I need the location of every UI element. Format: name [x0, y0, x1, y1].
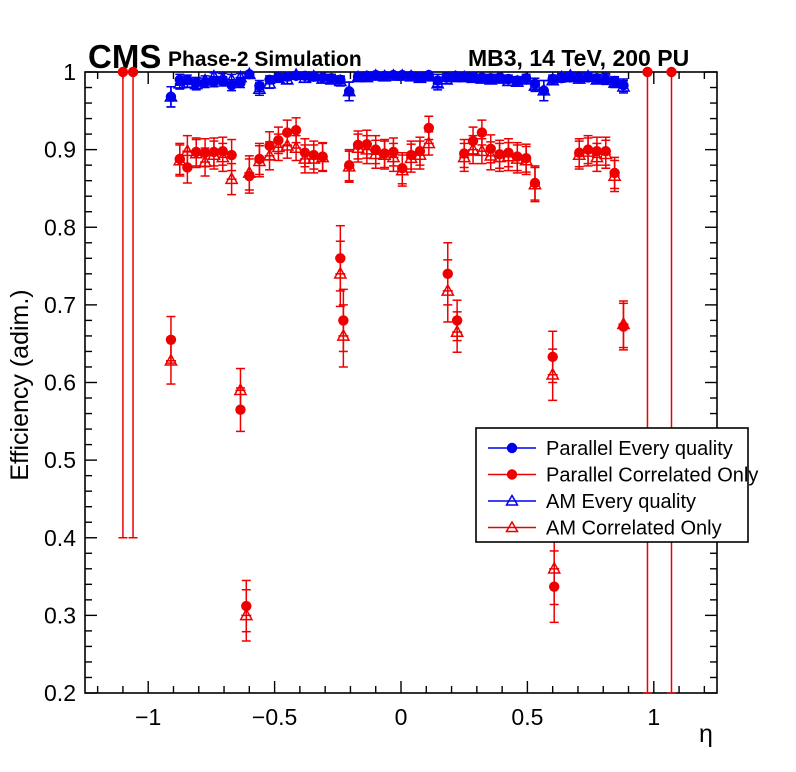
legend-layer[interactable]: Parallel Every qualityParallel Correlate… — [476, 428, 758, 542]
legend-label: Parallel Correlated Only — [546, 465, 758, 487]
y-tick-label: 0.7 — [44, 292, 76, 318]
legend-marker-filled-circle — [507, 443, 517, 453]
x-tick-label: −0.5 — [252, 704, 297, 730]
marker-filled-circle — [477, 127, 487, 137]
y-tick-label: 0.6 — [44, 370, 76, 396]
legend-label: AM Correlated Only — [546, 518, 722, 540]
y-tick-label: 1 — [63, 59, 76, 85]
legend-marker-filled-circle — [507, 469, 517, 479]
x-axis-title: η — [699, 720, 713, 748]
marker-filled-circle — [226, 150, 236, 160]
legend-label: Parallel Every quality — [546, 438, 733, 460]
x-tick-label: −1 — [135, 704, 161, 730]
x-tick-label: 1 — [647, 704, 660, 730]
x-tick-label: 0.5 — [511, 704, 543, 730]
marker-filled-circle — [291, 125, 301, 135]
y-tick-label: 0.8 — [44, 214, 76, 240]
marker-filled-circle — [666, 67, 676, 77]
dataset-conditions-label: MB3, 14 TeV, 200 PU — [468, 45, 689, 71]
canvas-background — [0, 0, 796, 772]
y-axis-title: Efficiency (adim.) — [6, 289, 34, 480]
phase2-simulation-label: Phase-2 Simulation — [168, 48, 362, 71]
marker-filled-circle — [642, 67, 652, 77]
efficiency-vs-eta-plot: CMS Phase-2 Simulation MB3, 14 TeV, 200 … — [0, 0, 796, 772]
marker-filled-circle — [128, 67, 138, 77]
x-tick-label: 0 — [395, 704, 408, 730]
y-tick-label: 0.9 — [44, 137, 76, 163]
marker-filled-circle — [118, 67, 128, 77]
y-tick-label: 0.3 — [44, 602, 76, 628]
legend-label: AM Every quality — [546, 491, 696, 513]
plot-canvas: CMS Phase-2 Simulation MB3, 14 TeV, 200 … — [0, 0, 796, 772]
y-tick-label: 0.5 — [44, 447, 76, 473]
y-tick-label: 0.2 — [44, 680, 76, 706]
y-tick-label: 0.4 — [44, 525, 76, 551]
